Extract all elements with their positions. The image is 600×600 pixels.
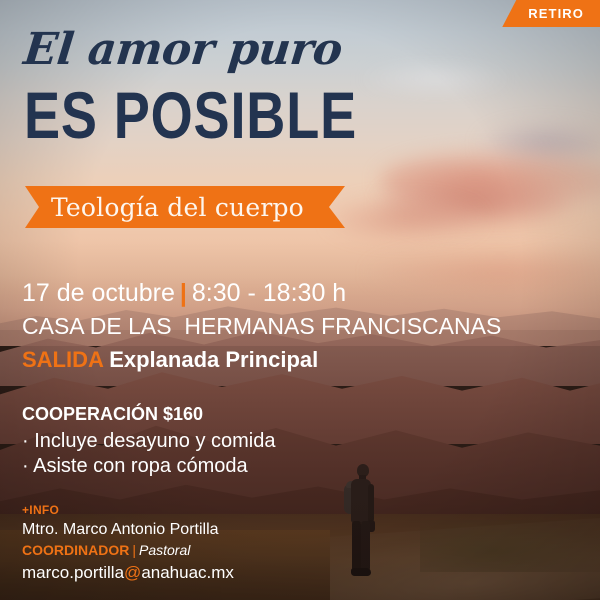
event-departure: SALIDA Explanada Principal: [22, 347, 318, 373]
cost-item-2: · Asiste con ropa cómoda: [22, 455, 248, 478]
contact-email[interactable]: marco.portilla@anahuac.mx: [22, 563, 234, 583]
departure-label: SALIDA: [22, 347, 103, 372]
retiro-badge: RETIRO: [502, 0, 600, 27]
contact-role-value: Pastoral: [139, 542, 190, 558]
headline-script: El amor puro: [22, 28, 433, 72]
poster: RETIRO El amor puro ES POSIBLE Teología …: [0, 0, 600, 600]
cost-title: COOPERACIÓN $160: [22, 404, 203, 425]
subtitle-ribbon-label: Teología del cuerpo: [51, 193, 304, 222]
event-time: 8:30 - 18:30 h: [192, 279, 346, 307]
content-layer: RETIRO El amor puro ES POSIBLE Teología …: [0, 0, 600, 600]
event-datetime: 17 de octubre|8:30 - 18:30 h: [22, 279, 346, 308]
headline-block: El amor puro ES POSIBLE: [24, 28, 430, 148]
contact-tag: +INFO: [22, 503, 59, 517]
event-venue: CASA DE LAS HERMANAS FRANCISCANAS: [22, 313, 501, 340]
headline-main: ES POSIBLE: [24, 82, 357, 148]
email-at-icon: @: [124, 563, 141, 582]
departure-place: Explanada Principal: [109, 347, 318, 372]
contact-role-label: COORDINADOR: [22, 542, 129, 558]
subtitle-ribbon: Teología del cuerpo: [25, 186, 345, 228]
contact-role-separator: |: [129, 542, 139, 558]
datetime-separator: |: [175, 279, 192, 307]
contact-role: COORDINADOR|Pastoral: [22, 542, 190, 558]
retiro-badge-label: RETIRO: [528, 6, 584, 21]
email-user: marco.portilla: [22, 563, 124, 582]
cost-item-1: · Incluye desayuno y comida: [22, 430, 275, 453]
email-domain: anahuac.mx: [141, 563, 234, 582]
contact-name: Mtro. Marco Antonio Portilla: [22, 521, 219, 539]
event-date: 17 de octubre: [22, 279, 175, 307]
